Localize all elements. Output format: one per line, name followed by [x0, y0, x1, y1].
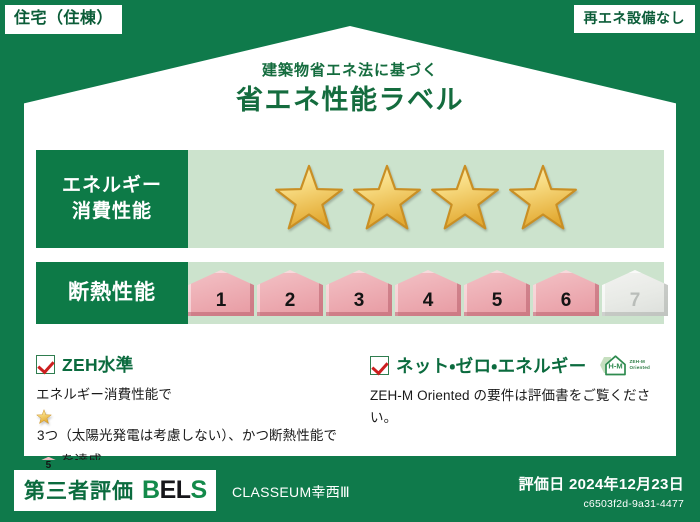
insulation-performance-key: 断熱性能	[36, 262, 188, 324]
zeh-note: ZEH水準 エネルギー消費性能で3つ（太陽光発電は考慮しない）、かつ断熱性能で5…	[36, 352, 354, 472]
insulation-grade-label: 4	[423, 290, 434, 312]
netzero-note-title: ネット・ゼロ・エネルギー	[396, 353, 587, 378]
insulation-grade-2: 2	[257, 270, 323, 316]
star-icon	[351, 163, 423, 235]
energy-key-line2: 消費性能	[72, 199, 152, 225]
insulation-grade-label: 3	[354, 290, 365, 312]
bels-logo-s: S	[191, 476, 207, 504]
evaluation-id: c6503f2d-9a31-4477	[519, 498, 684, 510]
zeh-text-a: エネルギー消費性能で	[36, 387, 172, 402]
energy-performance-key: エネルギー 消費性能	[36, 150, 188, 248]
netzero-note-header: ネット・ゼロ・エネルギー H-M ZEH-M Oriented	[370, 352, 664, 378]
zeh-note-title: ZEH水準	[62, 352, 134, 377]
star-icon	[36, 409, 354, 425]
energy-performance-value	[188, 150, 664, 248]
energy-key-line1: エネルギー	[62, 173, 162, 199]
insulation-performance-value: 1234567	[188, 262, 668, 324]
title-subline: 建築物省エネ法に基づく	[0, 62, 700, 80]
energy-performance-label: 住宅（住棟） 再エネ設備なし 建築物省エネ法に基づく 省エネ性能ラベル エネルギ…	[0, 0, 700, 522]
grade-badge-label: 5	[46, 460, 52, 471]
insulation-grade-6: 6	[533, 270, 599, 316]
logo-caption-line1: ZEH-M	[630, 359, 646, 364]
energy-performance-row: エネルギー 消費性能	[36, 150, 664, 248]
insulation-grade-label: 6	[561, 290, 572, 312]
zeh-note-body: エネルギー消費性能で3つ（太陽光発電は考慮しない）、かつ断熱性能で5を達成	[36, 384, 354, 472]
netzero-note-body: ZEH-M Oriented の要件は評価書をご覧ください。	[370, 385, 664, 429]
zeh-text-b: 3つ（太陽光発電は考慮しない）、かつ断熱性能で	[37, 428, 337, 443]
star-icon	[36, 409, 52, 425]
star-icon	[507, 163, 579, 235]
insulation-grade-label: 5	[492, 290, 503, 312]
zeh-note-header: ZEH水準	[36, 352, 354, 377]
netzero-note: ネット・ゼロ・エネルギー H-M ZEH-M Oriented ZEH-M Or…	[370, 352, 664, 472]
star-icon	[273, 163, 345, 235]
property-name: CLASSEUM幸西Ⅲ	[232, 482, 350, 502]
star-rating	[273, 163, 579, 235]
evaluation-info: 評価日 2024年12月23日 c6503f2d-9a31-4477	[519, 473, 684, 510]
insulation-grade-7: 7	[602, 270, 668, 316]
building-type-tab: 住宅（住棟）	[5, 5, 122, 34]
renewable-equipment-tab: 再エネ設備なし	[574, 5, 696, 33]
logo-caption-line2: Oriented	[630, 365, 651, 370]
insulation-grade-label: 7	[630, 290, 641, 312]
insulation-grade-label: 2	[285, 290, 296, 312]
star-icon	[429, 163, 501, 235]
bels-badge-jp-label: 第三者評価	[24, 475, 134, 505]
footer-bar: 第三者評価 BELS CLASSEUM幸西Ⅲ 評価日 2024年12月23日 c…	[0, 460, 700, 522]
logo-inner-text: H-M	[608, 362, 622, 371]
bels-logo-b: B	[142, 476, 160, 504]
title-mainline: 省エネ性能ラベル	[0, 84, 700, 118]
page-title: 建築物省エネ法に基づく 省エネ性能ラベル	[0, 62, 700, 118]
insulation-grade-scale: 1234567	[188, 270, 668, 316]
bels-logo-el: EL	[160, 476, 191, 504]
zeh-m-logo-caption: ZEH-M Oriented	[630, 359, 651, 370]
check-icon	[370, 356, 389, 375]
check-icon	[36, 355, 55, 374]
insulation-grade-3: 3	[326, 270, 392, 316]
insulation-grade-label: 1	[216, 290, 227, 312]
bels-badge: 第三者評価 BELS	[14, 470, 216, 511]
zeh-m-oriented-logo: H-M ZEH-M Oriented	[598, 352, 651, 378]
house-logo-icon: H-M	[598, 352, 628, 378]
bels-logo: BELS	[142, 478, 207, 503]
insulation-grade-1: 1	[188, 270, 254, 316]
insulation-grade-4: 4	[395, 270, 461, 316]
evaluation-date: 評価日 2024年12月23日	[519, 473, 684, 494]
insulation-grade-5: 5	[464, 270, 530, 316]
notes-section: ZEH水準 エネルギー消費性能で3つ（太陽光発電は考慮しない）、かつ断熱性能で5…	[36, 352, 664, 472]
insulation-performance-row: 断熱性能 1234567	[36, 262, 664, 324]
